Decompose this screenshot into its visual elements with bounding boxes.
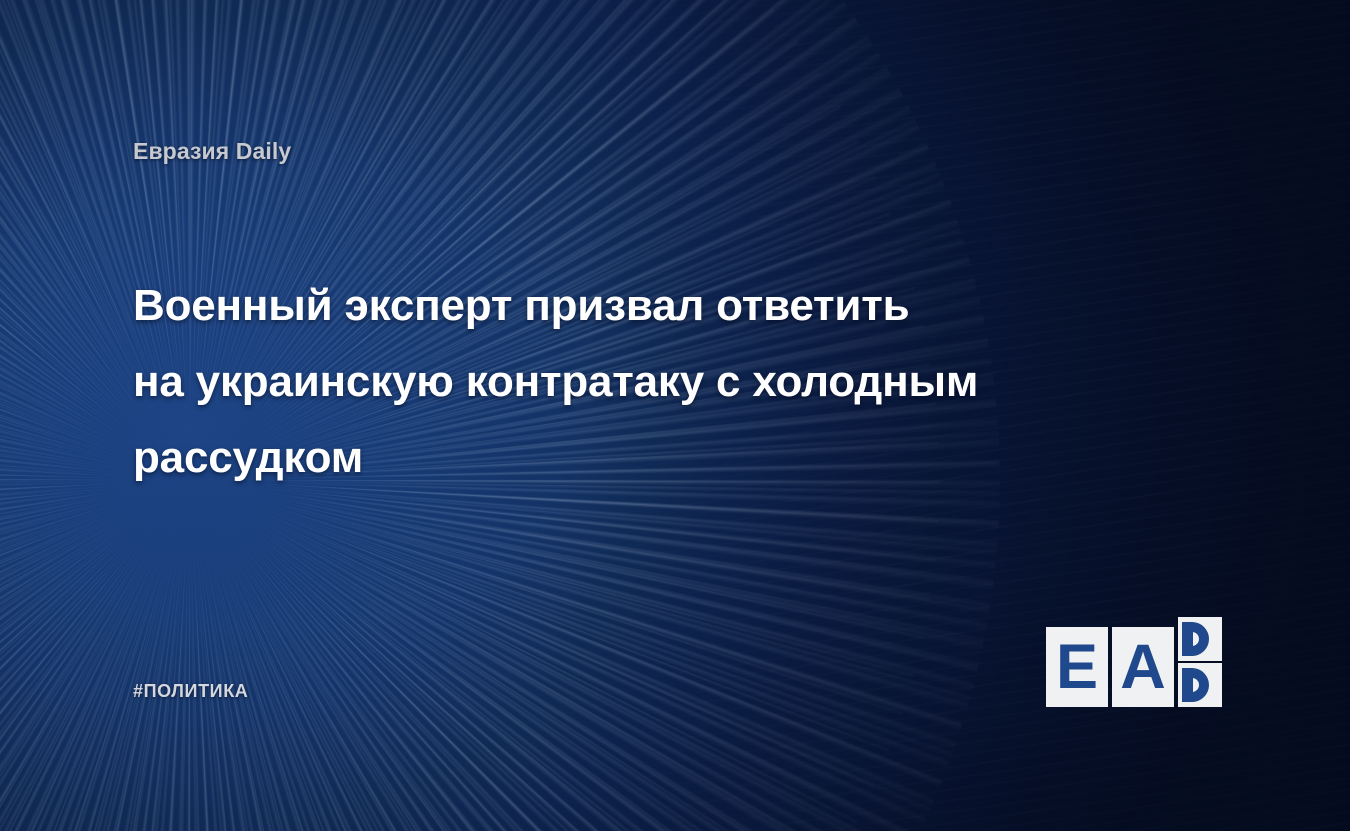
headline-line-2: на украинскую контратаку с холодным xyxy=(133,344,1203,420)
page-title: Военный эксперт призвал ответить на укра… xyxy=(133,268,1203,496)
logo-d-top-half-icon xyxy=(1178,617,1222,661)
eadaily-logo: E A xyxy=(1046,617,1222,709)
site-name: Евразия Daily xyxy=(133,138,291,165)
logo-letter-a: A xyxy=(1120,636,1166,699)
news-share-card: Евразия Daily Военный эксперт призвал от… xyxy=(0,0,1350,831)
headline-line-1: Военный эксперт призвал ответить xyxy=(133,268,1203,344)
logo-letter-e-tile: E xyxy=(1046,627,1108,707)
logo-d-column xyxy=(1178,617,1222,709)
category-tag[interactable]: #ПОЛИТИКА xyxy=(133,681,248,702)
headline-line-3: рассудком xyxy=(133,420,1203,496)
logo-d-bottom-half-icon xyxy=(1178,663,1222,707)
logo-letter-a-tile: A xyxy=(1112,627,1174,707)
logo-letter-e: E xyxy=(1056,636,1098,699)
